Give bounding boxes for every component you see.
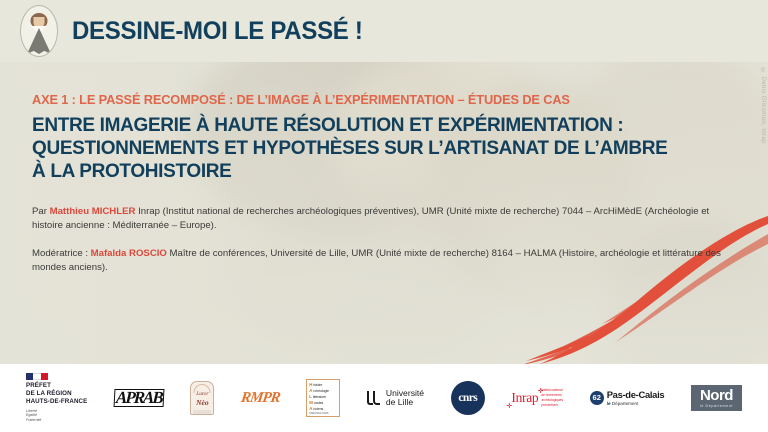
main-content: AXE 1 : LE PASSÉ RECOMPOSÉ : DE L’IMAGE … — [0, 62, 768, 275]
inrap-subtitle: institut national de recherches archéolo… — [541, 388, 563, 407]
page-title: DESSINE-MOI LE PASSÉ ! — [72, 17, 363, 46]
logo-rmpr: RMPR — [241, 390, 280, 407]
halma-initial-h: H — [309, 382, 312, 387]
pdc-number-badge: 62 — [590, 391, 604, 405]
dessine-moi-le-passe-logo-icon — [16, 3, 62, 59]
pdc-subtitle: le Département — [607, 401, 665, 406]
prefet-line-1: PRÉFET — [26, 382, 87, 390]
inrap-cross-icon: ✛ — [538, 387, 544, 395]
partner-logo-bar: PRÉFET DE LA RÉGION HAUTS-DE-FRANCE Libe… — [0, 364, 768, 432]
logo-halma: Histoire Archéologie Littérature Mondes … — [306, 379, 340, 417]
lutor-line-2: Nèo — [196, 398, 209, 407]
prefet-devise: Liberté Égalité Fraternité — [26, 409, 87, 423]
talk-title: ENTRE IMAGERIE À HAUTE RÉSOLUTION ET EXP… — [32, 114, 718, 183]
logo-aprab: APRAB — [114, 389, 164, 407]
halma-word-archeologie: rchéologie — [313, 389, 329, 393]
logo-nord: Nord le Département — [691, 385, 742, 411]
inrap-word-text: Inrap — [511, 390, 538, 405]
logo-prefet-hauts-de-france: PRÉFET DE LA RÉGION HAUTS-DE-FRANCE Libe… — [26, 373, 87, 422]
universite-lille-mark-icon — [367, 390, 382, 407]
nord-wordmark: Nord — [700, 388, 733, 403]
axis-label: AXE 1 : LE PASSÉ RECOMPOSÉ : DE L’IMAGE … — [32, 92, 715, 107]
moderator-prefix: Modératrice : — [32, 248, 91, 259]
ulille-line-2: de Lille — [386, 398, 424, 407]
logo-inrap: ✛ ✛ Inrap institut national de recherche… — [511, 388, 563, 407]
logo-lutor-neo: Lutor Nèo — [190, 381, 214, 415]
devise-fraternite: Fraternité — [26, 418, 87, 423]
logo-pas-de-calais: 62 Pas-de-Calais le Département — [590, 390, 665, 406]
speaker-paragraph: Par Matthieu MICHLER Inrap (Institut nat… — [32, 205, 722, 233]
halma-initial-l: L — [309, 394, 312, 399]
talk-title-line-3: À LA PROTOHISTOIRE — [32, 160, 718, 183]
moderator-paragraph: Modératrice : Mafalda ROSCIO Maître de c… — [32, 247, 722, 275]
halma-word-anciens: nciens — [313, 407, 323, 411]
halma-footnote: UMR 8164 CNRS — [309, 412, 337, 415]
aprab-wordmark: APRAB — [113, 389, 164, 407]
prefet-line-3: HAUTS-DE-FRANCE — [26, 398, 87, 406]
halma-initial-a2: A — [309, 406, 312, 411]
inrap-cross-icon: ✛ — [506, 402, 512, 410]
slide-root: © Denis Gliksman, Inrap DESSINE-MOI LE P… — [0, 0, 768, 432]
lutor-arc-icon — [194, 384, 211, 393]
prefet-line-2: DE LA RÉGION — [26, 390, 87, 398]
pdc-sub-text: Département — [611, 401, 639, 406]
logo-universite-de-lille: Université de Lille — [367, 389, 424, 408]
pdc-name: Pas-de-Calais — [607, 390, 665, 400]
halma-initial-a: A — [309, 388, 312, 393]
logo-cnrs: cnrs — [451, 381, 485, 415]
halma-word-litterature: ittérature — [313, 395, 326, 399]
inrap-wordmark: ✛ ✛ Inrap — [511, 390, 538, 406]
talk-title-line-1: ENTRE IMAGERIE À HAUTE RÉSOLUTION ET EXP… — [32, 114, 718, 137]
moderator-name: Mafalda ROSCIO — [91, 248, 167, 259]
halma-word-mondes: ondes — [314, 401, 323, 405]
prefet-name: PRÉFET DE LA RÉGION HAUTS-DE-FRANCE — [26, 382, 87, 405]
inrap-sub-4: préventives — [541, 403, 563, 408]
speaker-name: Matthieu MICHLER — [50, 206, 136, 217]
rmpr-wordmark: RMPR — [240, 390, 281, 407]
lutor-bar — [193, 410, 211, 414]
speaker-prefix: Par — [32, 206, 50, 217]
cnrs-wordmark: cnrs — [458, 392, 477, 404]
halma-word-histoire: istoire — [313, 383, 322, 387]
header-band: DESSINE-MOI LE PASSÉ ! — [0, 0, 768, 62]
talk-title-line-2: QUESTIONNEMENTS ET HYPOTHÈSES SUR L’ARTI… — [32, 137, 718, 160]
nord-subtitle: le Département — [700, 404, 733, 408]
halma-initial-m: M — [309, 400, 313, 405]
french-flag-icon — [26, 373, 48, 380]
